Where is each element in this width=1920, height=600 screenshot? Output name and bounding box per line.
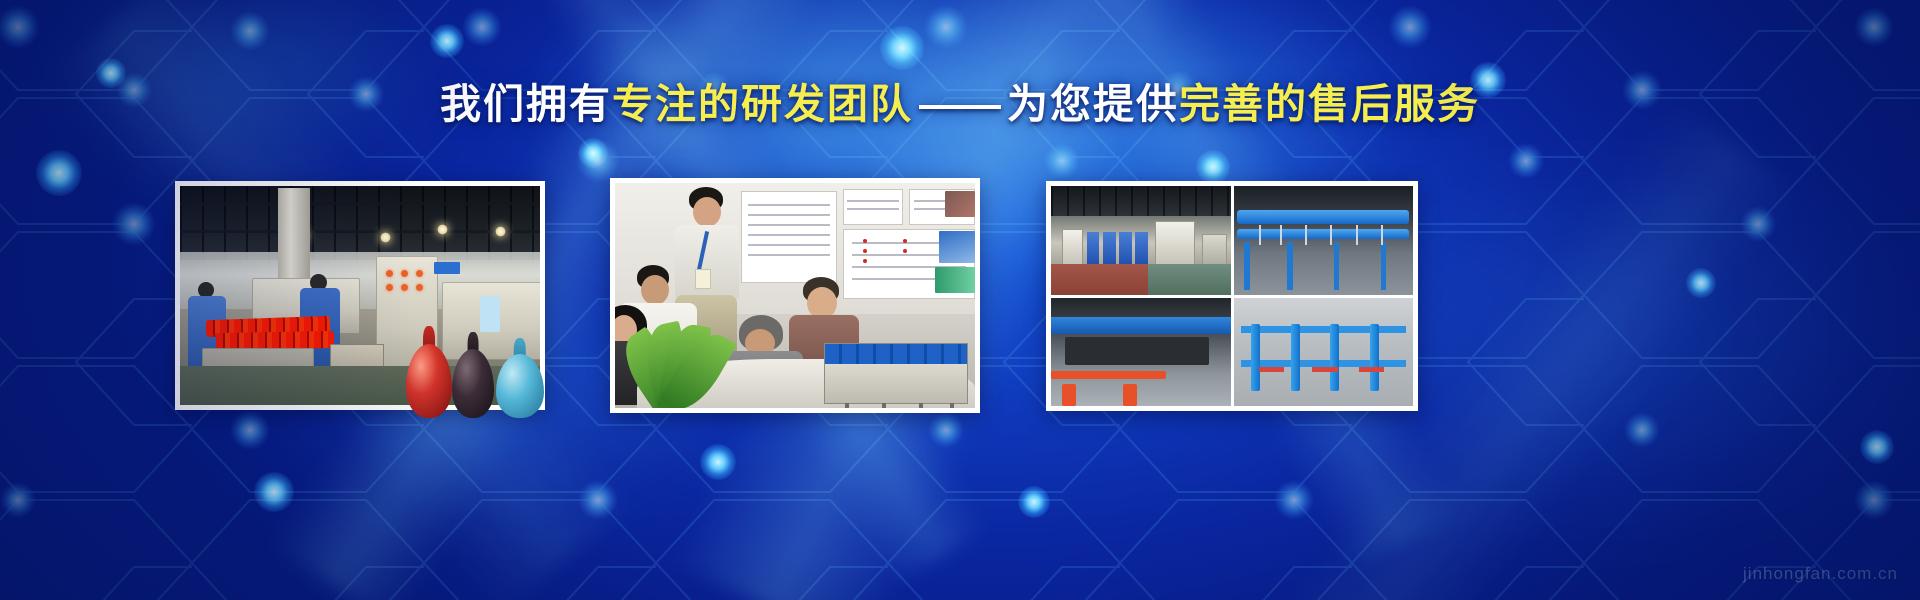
photo-frame-inner — [1051, 186, 1413, 406]
conveyor-blue-rail — [1051, 317, 1231, 334]
attendee-face — [641, 275, 669, 305]
glow-node — [880, 26, 924, 70]
photo-quadrant-blue-racks — [1234, 298, 1414, 407]
blue-tank — [1087, 232, 1100, 267]
blue-pipe — [1237, 210, 1409, 224]
glow-node — [430, 24, 464, 58]
blue-tank — [1135, 232, 1148, 267]
poster-photo — [935, 267, 975, 293]
headline-dash: —— — [913, 81, 1007, 127]
presenter-face — [693, 197, 721, 227]
ceiling-lamp — [495, 226, 506, 237]
red-accent — [1312, 367, 1337, 372]
red-accent — [1259, 367, 1284, 372]
photo-production-line-composite — [1051, 186, 1413, 406]
red-support — [1062, 384, 1076, 406]
machine-unit — [1202, 234, 1227, 267]
promo-banner: 我们拥有专注的研发团队——为您提供完善的售后服务 — [0, 0, 1920, 600]
red-accent — [1359, 367, 1384, 372]
rack-beam — [1241, 360, 1406, 367]
control-knob — [416, 284, 423, 291]
blue-pipe — [1237, 229, 1409, 239]
inset-machine-photo — [824, 343, 968, 404]
control-knob — [401, 270, 408, 277]
green-floor — [1148, 264, 1231, 294]
glow-node — [254, 472, 294, 512]
glow-node — [1018, 486, 1050, 518]
blue-tank — [1103, 232, 1116, 267]
warehouse-roof — [1051, 186, 1231, 216]
storage-tank — [1062, 229, 1084, 266]
glow-node — [1860, 430, 1894, 464]
rack-post — [1291, 324, 1300, 391]
photo-panel-technical-meeting[interactable] — [610, 178, 980, 413]
poster-photo — [945, 191, 975, 217]
frame-post — [1334, 242, 1339, 290]
glow-node — [578, 138, 608, 168]
id-badge — [695, 269, 711, 289]
glow-node — [700, 444, 736, 480]
conveyor-machine — [1065, 337, 1209, 365]
cabinet-label-plate — [434, 262, 460, 274]
machine-blue-panel — [825, 344, 967, 364]
vase-body — [452, 349, 494, 418]
roof-beam — [180, 202, 540, 205]
foreground-vase-group — [400, 313, 560, 418]
photo-quadrant-conveyor — [1051, 298, 1231, 407]
ceiling-lamp — [380, 232, 391, 243]
roof-beam — [180, 230, 540, 233]
rack-post — [1330, 324, 1339, 391]
photo-panel-group — [0, 181, 1920, 416]
control-knob — [386, 284, 393, 291]
headline-segment-1: 我们拥有 — [440, 81, 612, 127]
red-rail — [1051, 371, 1166, 379]
photo-quadrant-warehouse — [1051, 186, 1231, 295]
control-knob — [386, 270, 393, 277]
vase-body — [406, 344, 452, 418]
poster-photo — [939, 231, 975, 263]
rack-post — [1370, 324, 1379, 391]
frame-post — [1244, 242, 1249, 290]
control-knob — [416, 270, 423, 277]
headline-segment-3: 为您提供 — [1007, 81, 1179, 127]
frame-post — [1287, 242, 1292, 290]
site-watermark: jinhongfan.com.cn — [1743, 564, 1898, 584]
photo-quadrant-pipe-line — [1234, 186, 1414, 295]
ceiling-lamp — [437, 224, 448, 235]
vase-dark — [452, 332, 494, 418]
blue-tank — [1119, 232, 1132, 267]
vase-blue — [496, 338, 544, 418]
vase-red — [406, 326, 452, 418]
rack-beam — [1241, 326, 1406, 334]
potted-plant — [622, 323, 708, 409]
machine-unit — [1155, 221, 1194, 267]
rack-post — [1251, 324, 1260, 391]
photo-panel-production-line[interactable] — [1046, 181, 1418, 411]
workshop-roof — [180, 186, 540, 260]
headline-segment-2: 专注的研发团队 — [612, 81, 913, 127]
headline-segment-4: 完善的售后服务 — [1179, 81, 1480, 127]
lamp-stem — [385, 212, 386, 234]
photo-technical-meeting — [615, 183, 975, 408]
wall-certificate — [843, 189, 903, 225]
frame-post — [1381, 242, 1386, 290]
control-knob — [401, 284, 408, 291]
page-title: 我们拥有专注的研发团队——为您提供完善的售后服务 — [0, 80, 1920, 128]
glow-node — [1196, 150, 1230, 184]
wall-poster — [741, 191, 837, 283]
red-support — [1123, 384, 1137, 406]
photo-frame-inner — [615, 183, 975, 408]
vase-body — [496, 354, 544, 418]
